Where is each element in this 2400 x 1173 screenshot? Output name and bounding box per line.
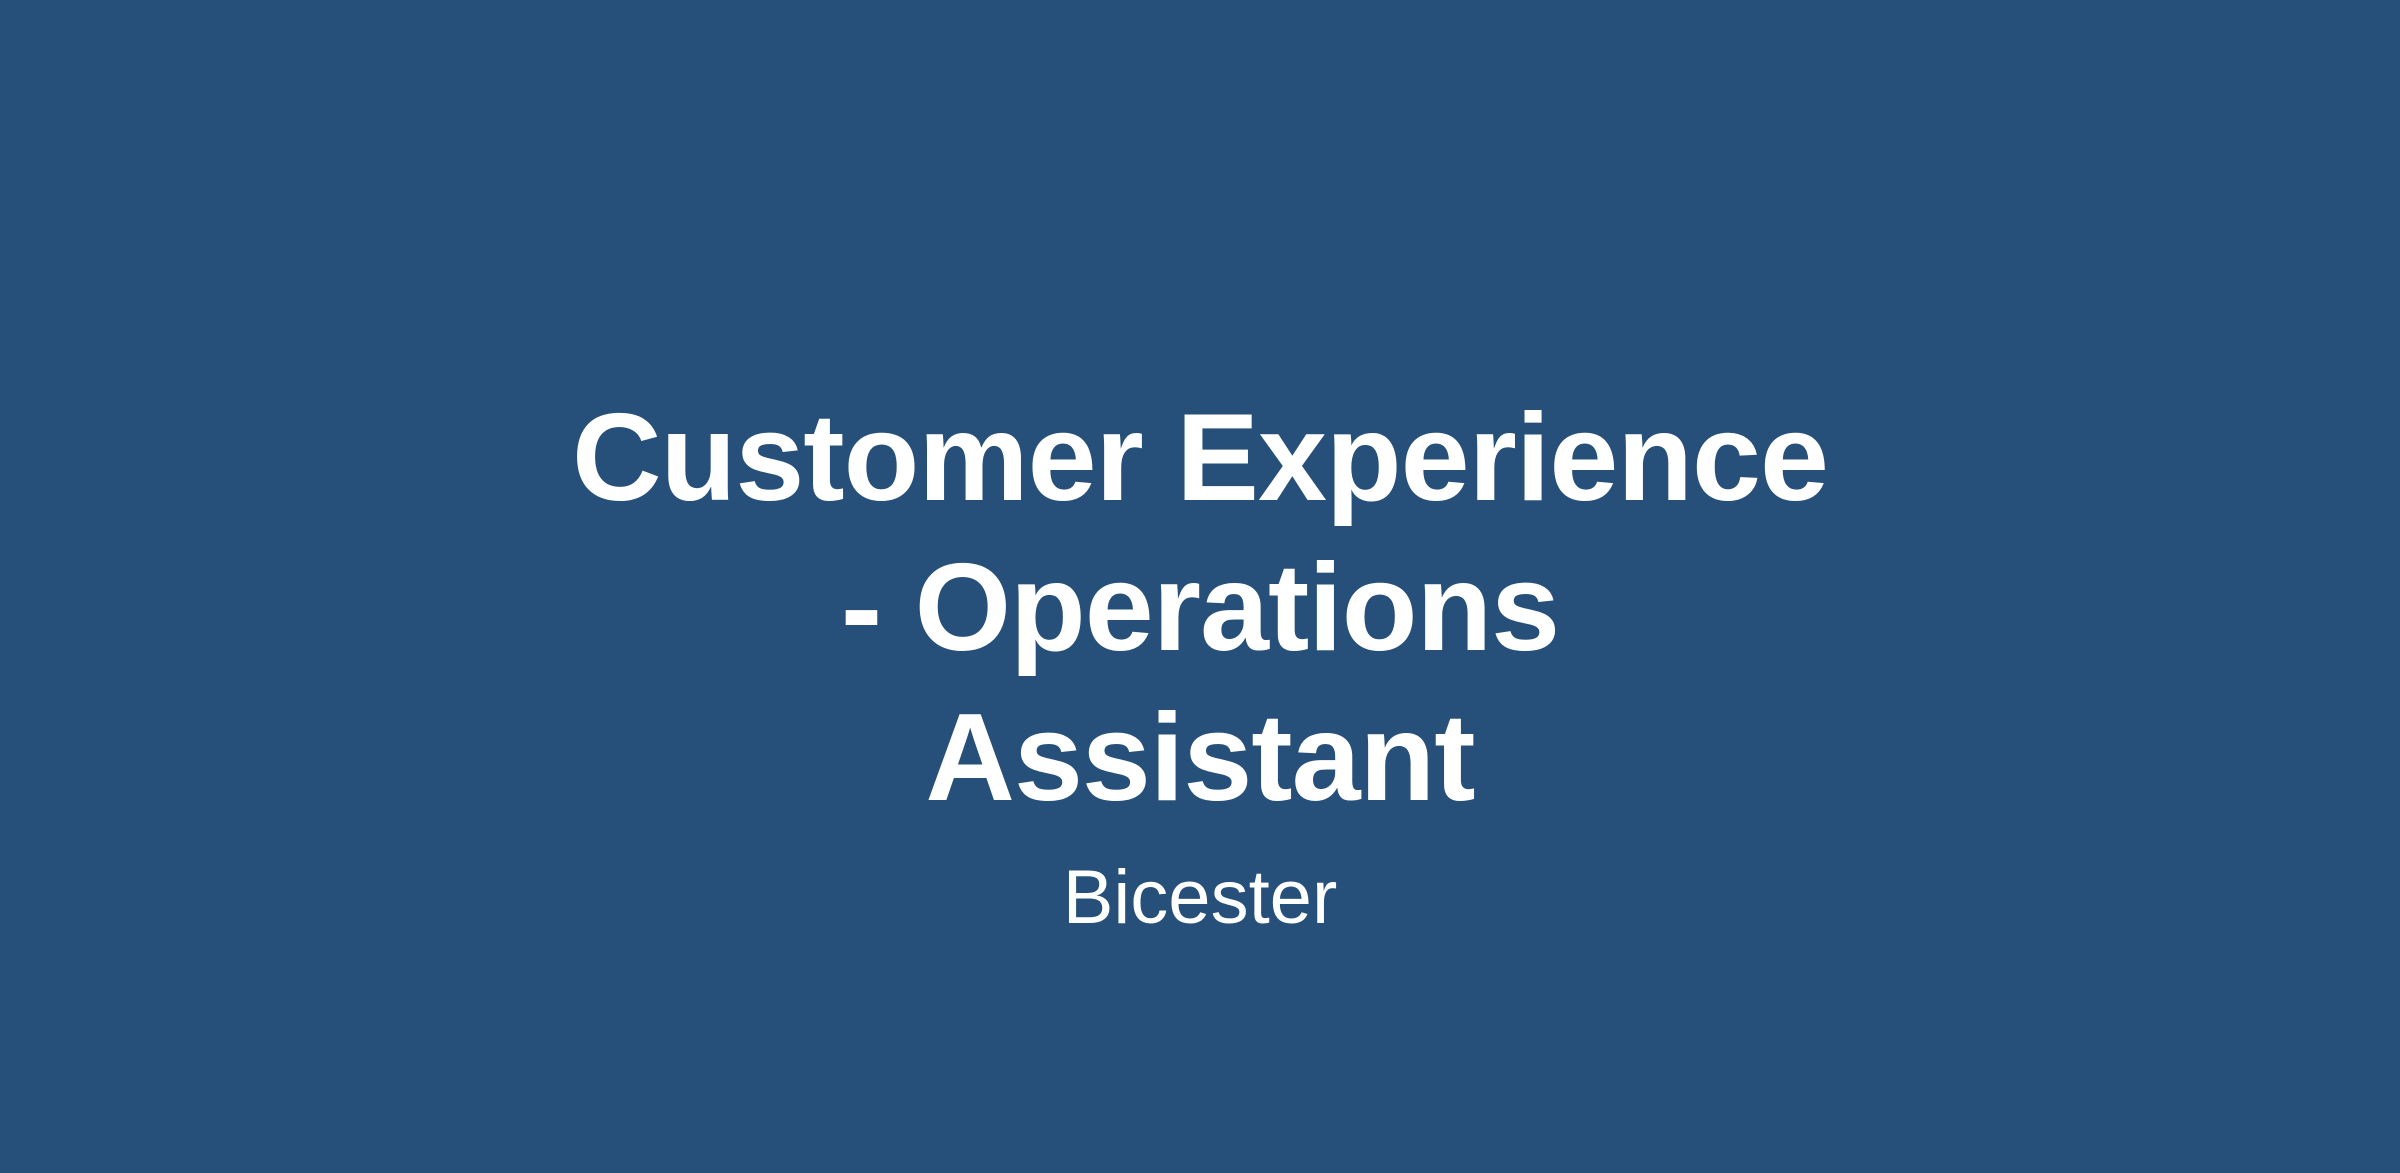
page-title: Customer Experience - Operations Assista… <box>565 383 1835 833</box>
job-location-subtitle: Bicester <box>1063 855 1338 941</box>
job-posting-banner: Customer Experience - Operations Assista… <box>0 0 2400 1173</box>
hero-text-block: Customer Experience - Operations Assista… <box>0 383 2400 941</box>
